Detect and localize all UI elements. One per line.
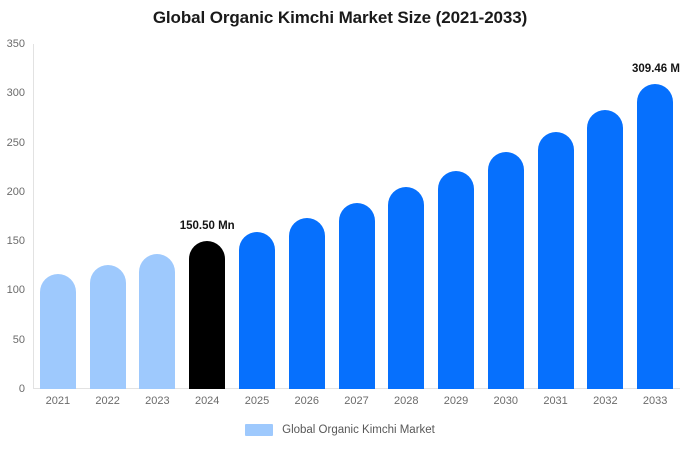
bar-series: 150.50 Mn309.46 Mn: [33, 44, 680, 389]
x-axis: 2021202220232024202520262027202820292030…: [33, 390, 680, 410]
y-axis-tick: 350: [7, 38, 25, 50]
bar-2029[interactable]: [438, 171, 474, 389]
y-axis-tick: 100: [7, 284, 25, 296]
x-axis-tick: 2033: [643, 395, 667, 407]
bar-2026[interactable]: [289, 218, 325, 389]
bar-chart: Global Organic Kimchi Market Size (2021-…: [0, 0, 680, 450]
x-axis-tick: 2022: [95, 395, 119, 407]
bar-2032[interactable]: [587, 110, 623, 389]
x-axis-tick: 2026: [294, 395, 318, 407]
legend-item[interactable]: Global Organic Kimchi Market: [245, 424, 435, 436]
y-axis: 350300250200150100500: [0, 44, 33, 389]
y-axis-tick: 0: [19, 383, 25, 395]
bar-2021[interactable]: [40, 274, 76, 389]
x-axis-tick: 2029: [444, 395, 468, 407]
bar-2024[interactable]: [189, 241, 225, 389]
x-axis-tick: 2025: [245, 395, 269, 407]
legend-label: Global Organic Kimchi Market: [282, 424, 435, 436]
y-axis-tick: 200: [7, 186, 25, 198]
bar-2031[interactable]: [538, 132, 574, 389]
x-axis-tick: 2027: [344, 395, 368, 407]
x-axis-tick: 2024: [195, 395, 219, 407]
chart-title: Global Organic Kimchi Market Size (2021-…: [0, 8, 680, 28]
y-axis-tick: 50: [13, 334, 25, 346]
y-axis-tick: 300: [7, 87, 25, 99]
y-axis-tick: 250: [7, 137, 25, 149]
bar-2023[interactable]: [139, 254, 175, 389]
value-label-2033: 309.46 Mn: [632, 63, 680, 75]
y-axis-tick: 150: [7, 235, 25, 247]
bar-2030[interactable]: [488, 152, 524, 389]
chart-legend: Global Organic Kimchi Market: [0, 424, 680, 436]
x-axis-tick: 2028: [394, 395, 418, 407]
bar-2022[interactable]: [90, 265, 126, 389]
x-axis-tick: 2023: [145, 395, 169, 407]
bar-2028[interactable]: [388, 187, 424, 389]
bar-2033[interactable]: [637, 84, 673, 389]
x-axis-tick: 2032: [593, 395, 617, 407]
x-axis-tick: 2021: [46, 395, 70, 407]
value-label-2024: 150.50 Mn: [180, 220, 235, 232]
legend-swatch: [245, 424, 273, 436]
x-axis-tick: 2030: [494, 395, 518, 407]
bar-2027[interactable]: [339, 203, 375, 389]
bar-2025[interactable]: [239, 232, 275, 389]
x-axis-tick: 2031: [543, 395, 567, 407]
